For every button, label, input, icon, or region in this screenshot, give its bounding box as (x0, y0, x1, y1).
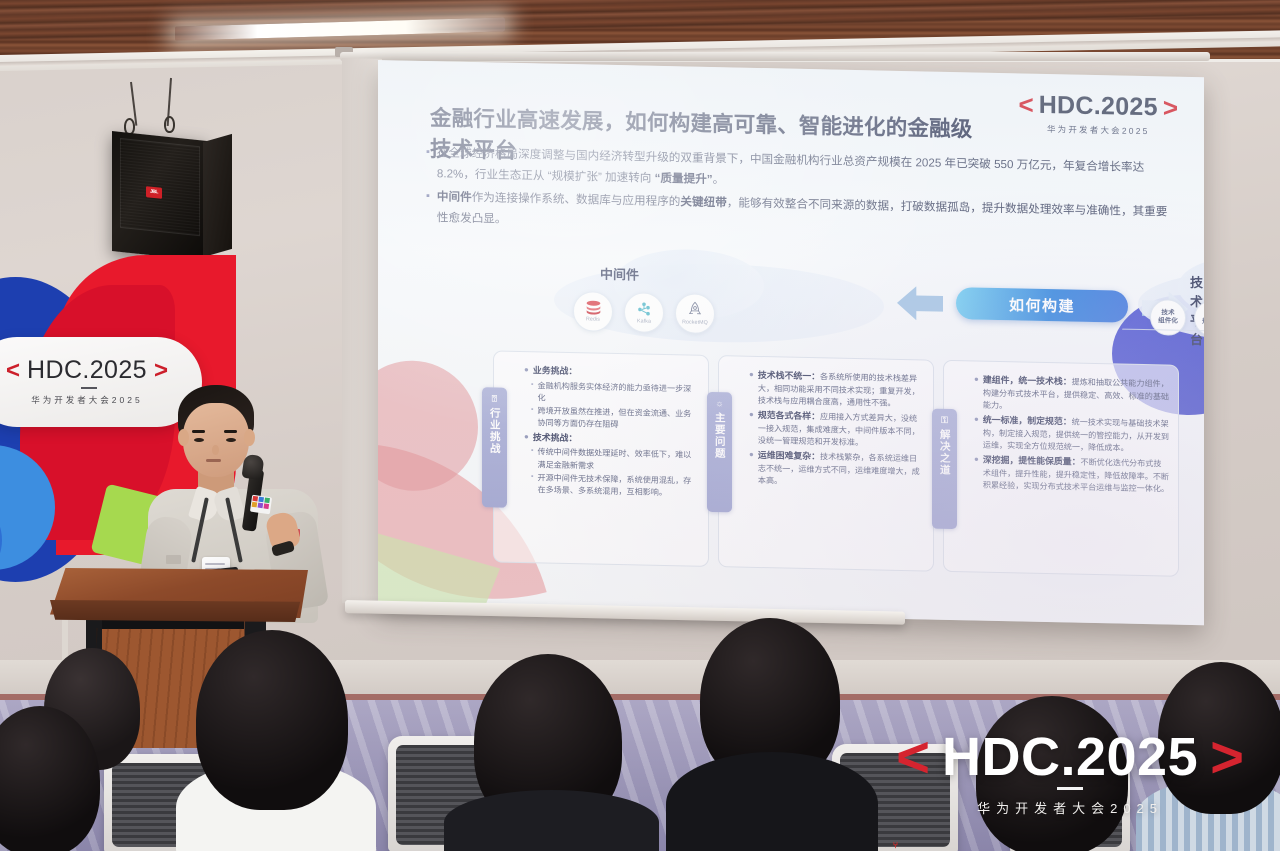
logo-bracket-right: > (1163, 94, 1178, 120)
logo-bracket-left: < (1019, 91, 1034, 117)
panel-2-text-2: 运维困难复杂：技术栈繁杂，各系统运维日志不统一，运维方式不同，运维难度增大，成本… (758, 449, 924, 491)
arrow-left-icon (897, 286, 943, 321)
panel-1-sub-0-0: ▪ 金融机构服务实体经济的能力亟待进一步深化 (531, 380, 699, 408)
tab-industry-label: 行业挑战 (488, 407, 500, 454)
panel-3-text-0: 建组件，统一技术栈：提炼和抽取公共能力组件，构建分布式技术平台，提供稳定、高效、… (983, 374, 1169, 416)
watermark-bracket-right: > (1210, 733, 1244, 782)
item-dot: ● (974, 373, 979, 411)
bullet-marker: ▪ (426, 187, 430, 228)
head-hair (196, 630, 348, 810)
logo-subtitle: 华为开发者大会2025 (1019, 122, 1179, 137)
sign-title: HDC.2025 (27, 358, 147, 383)
panel-3-text-1: 统一标准，制定规范：统一技术实现与基础技术架构，制定接入规范，提供统一的管控能力… (983, 414, 1169, 456)
microphone-head (241, 454, 264, 481)
panel-1-sub-text: 传统中间件数据处理延时、效率低下，难以满足金融新需求 (537, 447, 699, 475)
watermark-bracket-left: < (896, 733, 930, 782)
presenter-brow-left (192, 430, 205, 433)
item-dot: ● (749, 409, 754, 447)
watermark-subtitle: 华为开发者大会2025 (896, 798, 1244, 817)
how-to-build-button[interactable]: 如何构建 (956, 287, 1128, 323)
presenter-ear-left (178, 429, 189, 446)
panel-1-heading-1: 技术挑战： (533, 431, 577, 445)
panel-3-body: ● 建组件，统一技术栈：提炼和抽取公共能力组件，构建分布式技术平台，提供稳定、高… (974, 373, 1169, 567)
speaker-side-panel (203, 134, 232, 257)
panel-2-text-1: 规范各式各样：应用接入方式差异大，没统一接入规范，集成难度大，中间件版本不同，没… (758, 409, 924, 451)
sub-dot: ▪ (531, 380, 533, 405)
presenter-eye-left (194, 438, 204, 442)
key-icon: ⚿ (941, 415, 948, 426)
logo-title: HDC.2025 (1039, 92, 1158, 119)
item-dot: ● (749, 369, 754, 407)
panel-main-problems: ● 技术栈不统一：各系统所使用的技术栈差异大，相同功能采用不同技术实现；重复开发… (718, 355, 934, 572)
slide-diagram: 中间件 Redis (378, 255, 1204, 362)
platform-chip-1-line1: 技术 (1161, 309, 1174, 318)
ceiling-speaker: JBL (108, 92, 238, 262)
panel-1-heading-0: 业务挑战： (533, 364, 577, 378)
panel-2-heading-0: 技术栈不统一： (758, 370, 820, 381)
panel-1-body: ● 业务挑战： ▪ 金融机构服务实体经济的能力亟待进一步深化 ▪ 跨境开放虽然在… (524, 364, 699, 558)
question-mark-icon: ⍰ (492, 393, 497, 404)
panel-3-item-1: ● 统一标准，制定规范：统一技术实现与基础技术架构，制定接入规范，提供统一的管控… (974, 414, 1169, 456)
podium-top-edge (50, 600, 308, 622)
panel-2-item-0: ● 技术栈不统一：各系统所使用的技术栈差异大，相同功能采用不同技术实现；重复开发… (749, 369, 924, 411)
panel-3-item-2: ● 深挖掘，提性能保质量：不断优化迭代分布式技术组件，提升性能，提升稳定性，降低… (974, 454, 1169, 496)
panel-1-item-0: ● 业务挑战： (524, 364, 699, 381)
projection-screen: < HDC.2025 > 华为开发者大会2025 金融行业高速发展，如何构建高可… (378, 60, 1204, 625)
microphone-flag-logo (250, 495, 272, 515)
watermark-divider (1057, 787, 1083, 790)
panel-2-item-1: ● 规范各式各样：应用接入方式差异大，没统一接入规范，集成难度大，中间件版本不同… (749, 409, 924, 451)
tab-solutions-label: 解决之道 (938, 428, 950, 475)
audience-member-head (196, 630, 348, 810)
panel-3-text-2: 深挖掘，提性能保质量：不断优化迭代分布式技术组件，提升性能，提升稳定性，降低故障… (983, 454, 1169, 496)
panel-1-sub-text: 开源中间件无技术保障，系统使用混乱，存在多场景、多系统混用，互相影响。 (537, 472, 699, 500)
middleware-group-label: 中间件 (600, 264, 639, 284)
panel-2-heading-1: 规范各式各样： (758, 410, 820, 421)
item-dot: ● (524, 431, 529, 445)
panel-2-body: ● 技术栈不统一：各系统所使用的技术栈差异大，相同功能采用不同技术实现；重复开发… (749, 369, 924, 563)
sun-burst-icon: ☼ (715, 398, 723, 409)
panel-1-sub-0-1: ▪ 跨境开放虽然在推进，但在资金流通、业务协同等方面仍存在阻碍 (531, 405, 699, 433)
platform-chip-1-line2: 组件化 (1158, 317, 1178, 326)
item-dot: ● (974, 454, 979, 492)
item-dot: ● (749, 449, 754, 487)
head-hair (0, 706, 100, 851)
redis-label: Redis (586, 316, 600, 322)
shirt-logo-icon (166, 555, 181, 564)
panel-2-heading-2: 运维困难复杂： (758, 450, 820, 461)
platform-chip-2-line2: 规范化 (1202, 318, 1204, 327)
speaker-hook-right (164, 116, 175, 133)
audience-member-head (0, 706, 100, 851)
slide-panels: ● 业务挑战： ▪ 金融机构服务实体经济的能力亟待进一步深化 ▪ 跨境开放虽然在… (378, 348, 1204, 615)
audience-member-shirt (444, 790, 659, 851)
presenter-ear-right (244, 429, 255, 446)
presenter-brow-right (224, 430, 237, 433)
presenter-eye-right (226, 438, 236, 442)
sign-bracket-right: > (154, 359, 168, 383)
watermark-title: HDC.2025 (942, 733, 1198, 782)
panel-3-heading-1: 统一标准，制定规范： (983, 415, 1072, 427)
presenter-face (183, 403, 249, 477)
redis-chip[interactable]: Redis (573, 291, 613, 332)
kafka-label: Kafka (637, 318, 651, 324)
hdc-watermark: < HDC.2025 > 华为开发者大会2025 (896, 733, 1244, 817)
item-dot: ● (974, 414, 979, 452)
sub-dot: ▪ (531, 446, 533, 471)
tab-problems-label: 主要问题 (713, 412, 725, 459)
presentation-slide: < HDC.2025 > 华为开发者大会2025 金融行业高速发展，如何构建高可… (378, 60, 1204, 625)
panel-3-heading-2: 深挖掘，提性能保质量： (983, 455, 1081, 467)
kafka-icon (636, 301, 652, 317)
panel-3-item-0: ● 建组件，统一技术栈：提炼和抽取公共能力组件，构建分布式技术平台，提供稳定、高… (974, 373, 1169, 415)
panel-1-sub-1-0: ▪ 传统中间件数据处理延时、效率低下，难以满足金融新需求 (531, 446, 699, 474)
slide-bullet-list: ▪ 在全球经济格局深度调整与国内经济转型升级的双重背景下，中国金融机构行业总资产… (426, 143, 1168, 247)
tab-main-problems[interactable]: ☼ 主要问题 (707, 392, 732, 513)
presenter-nose (212, 445, 219, 455)
panel-1-sub-text: 金融机构服务实体经济的能力亟待进一步深化 (537, 380, 699, 408)
redis-icon (585, 300, 602, 315)
panel-2-item-2: ● 运维困难复杂：技术栈繁杂，各系统运维日志不统一，运维方式不同，运维难度增大，… (749, 449, 924, 491)
bullet-marker: ▪ (426, 143, 430, 184)
sign-bracket-left: < (6, 359, 20, 383)
screen-roller-housing (340, 52, 1210, 61)
sub-dot: ▪ (531, 472, 533, 497)
panel-2-text-0: 技术栈不统一：各系统所使用的技术栈差异大，相同功能采用不同技术实现；重复开发，技… (758, 369, 924, 411)
kafka-chip[interactable]: Kafka (624, 292, 664, 333)
slide-hdc-logo: < HDC.2025 > 华为开发者大会2025 (1019, 91, 1179, 137)
panel-1-sub-text: 跨境开放虽然在推进，但在资金流通、业务协同等方面仍存在阻碍 (537, 405, 699, 433)
item-dot: ● (524, 364, 529, 378)
rocketmq-chip[interactable]: RocketMQ (675, 293, 715, 334)
panel-solutions: ● 建组件，统一技术栈：提炼和抽取公共能力组件，构建分布式技术平台，提供稳定、高… (943, 360, 1179, 577)
rocketmq-label: RocketMQ (682, 319, 708, 326)
panel-industry-challenges: ● 业务挑战： ▪ 金融机构服务实体经济的能力亟待进一步深化 ▪ 跨境开放虽然在… (493, 350, 709, 567)
jbl-logo-icon: JBL (146, 186, 162, 199)
rocketmq-icon (688, 301, 702, 318)
conference-room-scene: JBL < HDC.2025 > 华为开发者大会2025 金融行业高速发展，如何… (0, 0, 1280, 851)
panel-3-heading-0: 建组件，统一技术栈： (983, 375, 1072, 387)
audience-member-shirt (666, 752, 878, 851)
panel-1-item-1: ● 技术挑战： (524, 431, 699, 448)
platform-base-line (1114, 329, 1204, 356)
chair-huawei-logo-icon: ⑂ (893, 840, 897, 850)
tab-solutions[interactable]: ⚿ 解决之道 (932, 409, 957, 530)
sign-divider (81, 387, 97, 389)
sub-dot: ▪ (531, 405, 533, 430)
panel-1-sub-1-1: ▪ 开源中间件无技术保障，系统使用混乱，存在多场景、多系统混用，互相影响。 (531, 472, 699, 500)
tab-industry-challenges[interactable]: ⍰ 行业挑战 (482, 387, 507, 508)
presenter-mouth (206, 459, 221, 462)
